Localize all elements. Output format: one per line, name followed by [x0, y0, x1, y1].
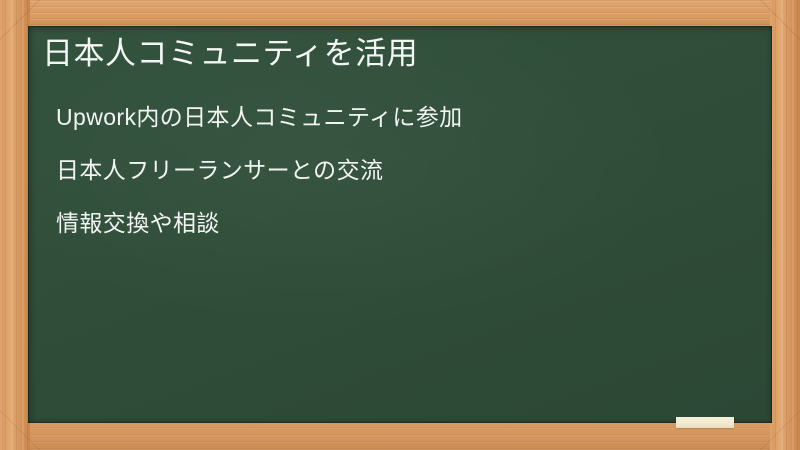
- frame-left-rail: [0, 0, 30, 450]
- list-item: Upwork内の日本人コミュニティに参加: [56, 104, 746, 130]
- list-item: 日本人フリーランサーとの交流: [56, 157, 746, 183]
- frame-right-rail: [770, 0, 800, 450]
- frame-top-rail: [0, 0, 800, 26]
- chalk-eraser-icon: [676, 417, 734, 428]
- slide-title: 日本人コミュニティを活用: [42, 32, 742, 76]
- list-item: 情報交換や相談: [56, 210, 746, 236]
- chalkboard-surface: 日本人コミュニティを活用 Upwork内の日本人コミュニティに参加 日本人フリー…: [28, 26, 772, 423]
- chalkboard-slide: 日本人コミュニティを活用 Upwork内の日本人コミュニティに参加 日本人フリー…: [0, 0, 800, 450]
- bullet-list: Upwork内の日本人コミュニティに参加 日本人フリーランサーとの交流 情報交換…: [56, 104, 746, 263]
